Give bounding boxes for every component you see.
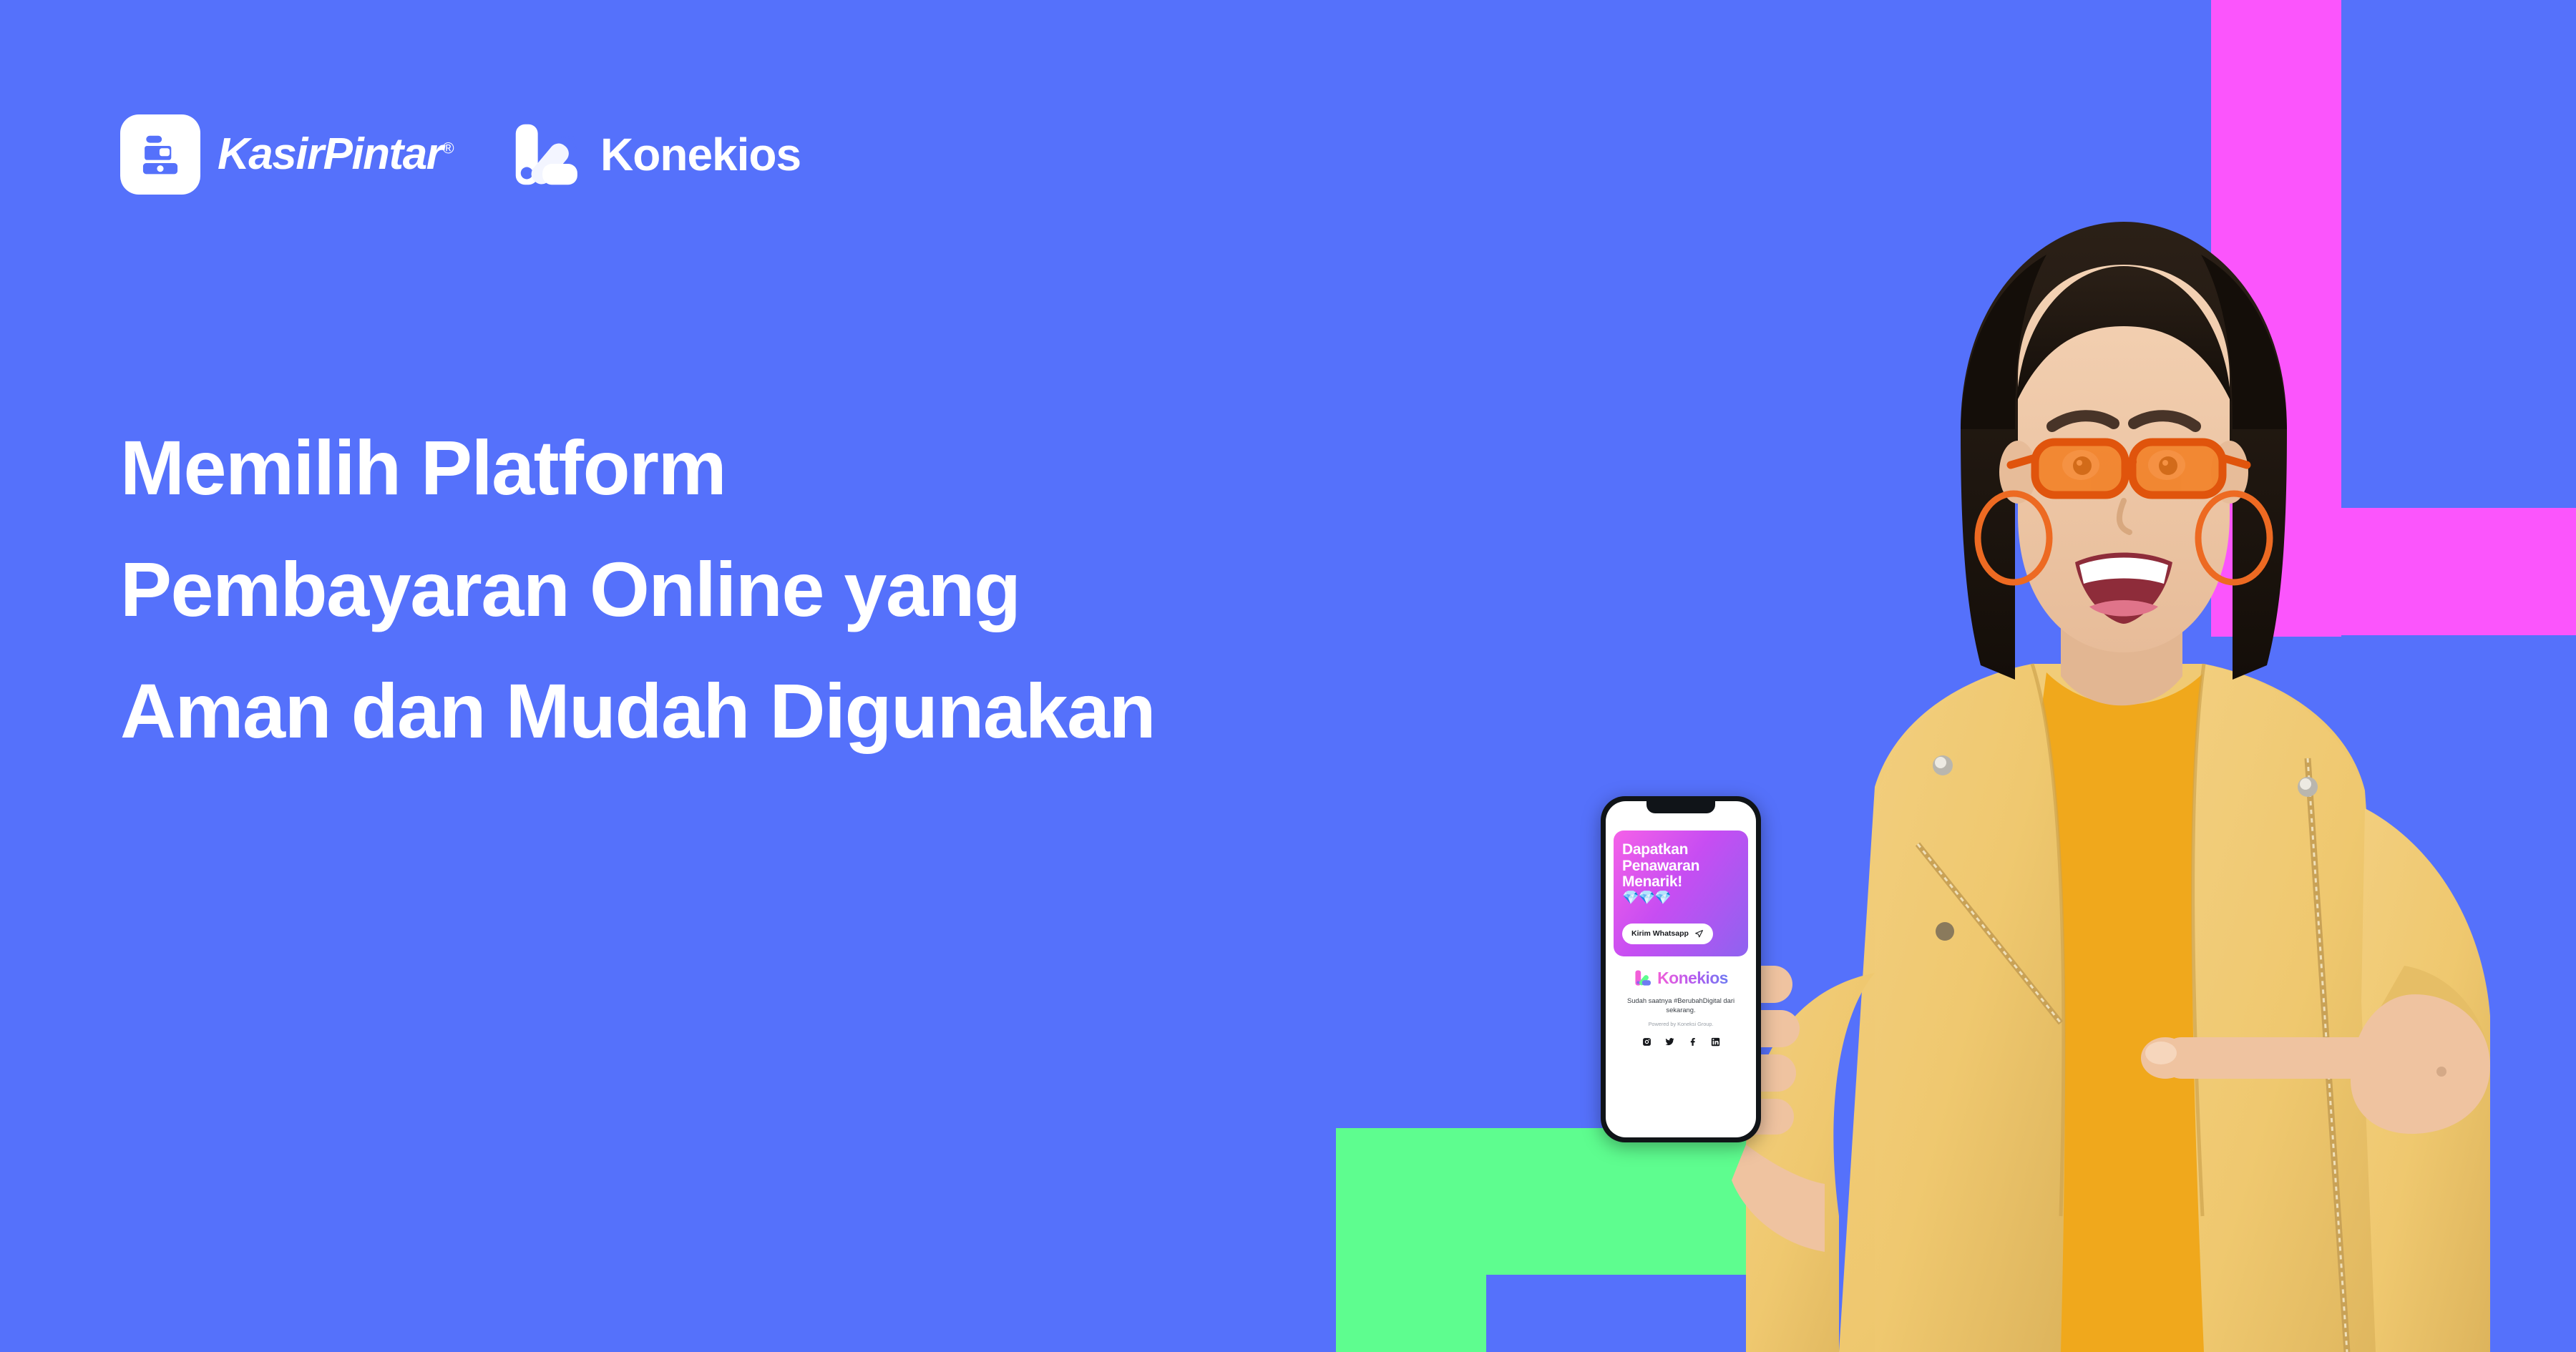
send-paper-plane-icon <box>1694 929 1704 939</box>
phone-notch <box>1646 801 1715 813</box>
phone-mockup: Dapatkan Penawaran Menarik! 💎💎💎 Kirim Wh… <box>1601 796 1761 1142</box>
phone-brand-row: Konekios <box>1634 969 1728 988</box>
phone-tagline: Sudah saatnya #BerubahDigital dari sekar… <box>1616 996 1745 1014</box>
kirim-whatsapp-button[interactable]: Kirim Whatsapp <box>1622 924 1713 944</box>
headline: Memilih Platform Pembayaran Online yang … <box>120 429 1155 750</box>
kasirpintar-wordmark-text: KasirPintar <box>218 129 442 179</box>
linkedin-icon[interactable] <box>1711 1037 1720 1047</box>
konekios-logo[interactable]: Konekios <box>509 117 801 192</box>
promo-banner: KasirPintar® Konekios Memilih Platform P… <box>0 0 2576 1352</box>
kirim-whatsapp-label: Kirim Whatsapp <box>1631 929 1689 938</box>
kasirpintar-wordmark: KasirPintar® <box>218 132 453 177</box>
headline-line-1: Memilih Platform <box>120 429 1155 506</box>
headline-line-2: Pembayaran Online yang <box>120 551 1155 628</box>
konekios-wordmark: Konekios <box>600 132 801 177</box>
logo-bar: KasirPintar® Konekios <box>120 114 801 195</box>
social-links <box>1642 1037 1720 1047</box>
kasirpintar-logo[interactable]: KasirPintar® <box>120 114 453 195</box>
headline-line-3: Aman dan Mudah Digunakan <box>120 672 1155 750</box>
registered-trademark-symbol: ® <box>442 139 453 157</box>
konekios-k-icon <box>509 117 583 192</box>
phone-brand-name: Konekios <box>1657 969 1728 988</box>
promo-title: Dapatkan Penawaran Menarik! <box>1622 842 1740 891</box>
facebook-icon[interactable] <box>1688 1037 1697 1047</box>
phone-screen: Dapatkan Penawaran Menarik! 💎💎💎 Kirim Wh… <box>1606 801 1756 1137</box>
gem-emojis: 💎💎💎 <box>1622 891 1740 906</box>
model-photo <box>1660 215 2576 1352</box>
konekios-k-icon <box>1634 969 1652 987</box>
powered-by-text: Powered by Koneksi Group. <box>1649 1021 1714 1027</box>
twitter-icon[interactable] <box>1665 1037 1674 1047</box>
promo-card: Dapatkan Penawaran Menarik! 💎💎💎 Kirim Wh… <box>1614 831 1748 956</box>
cash-register-icon <box>120 114 200 195</box>
instagram-icon[interactable] <box>1642 1037 1652 1047</box>
